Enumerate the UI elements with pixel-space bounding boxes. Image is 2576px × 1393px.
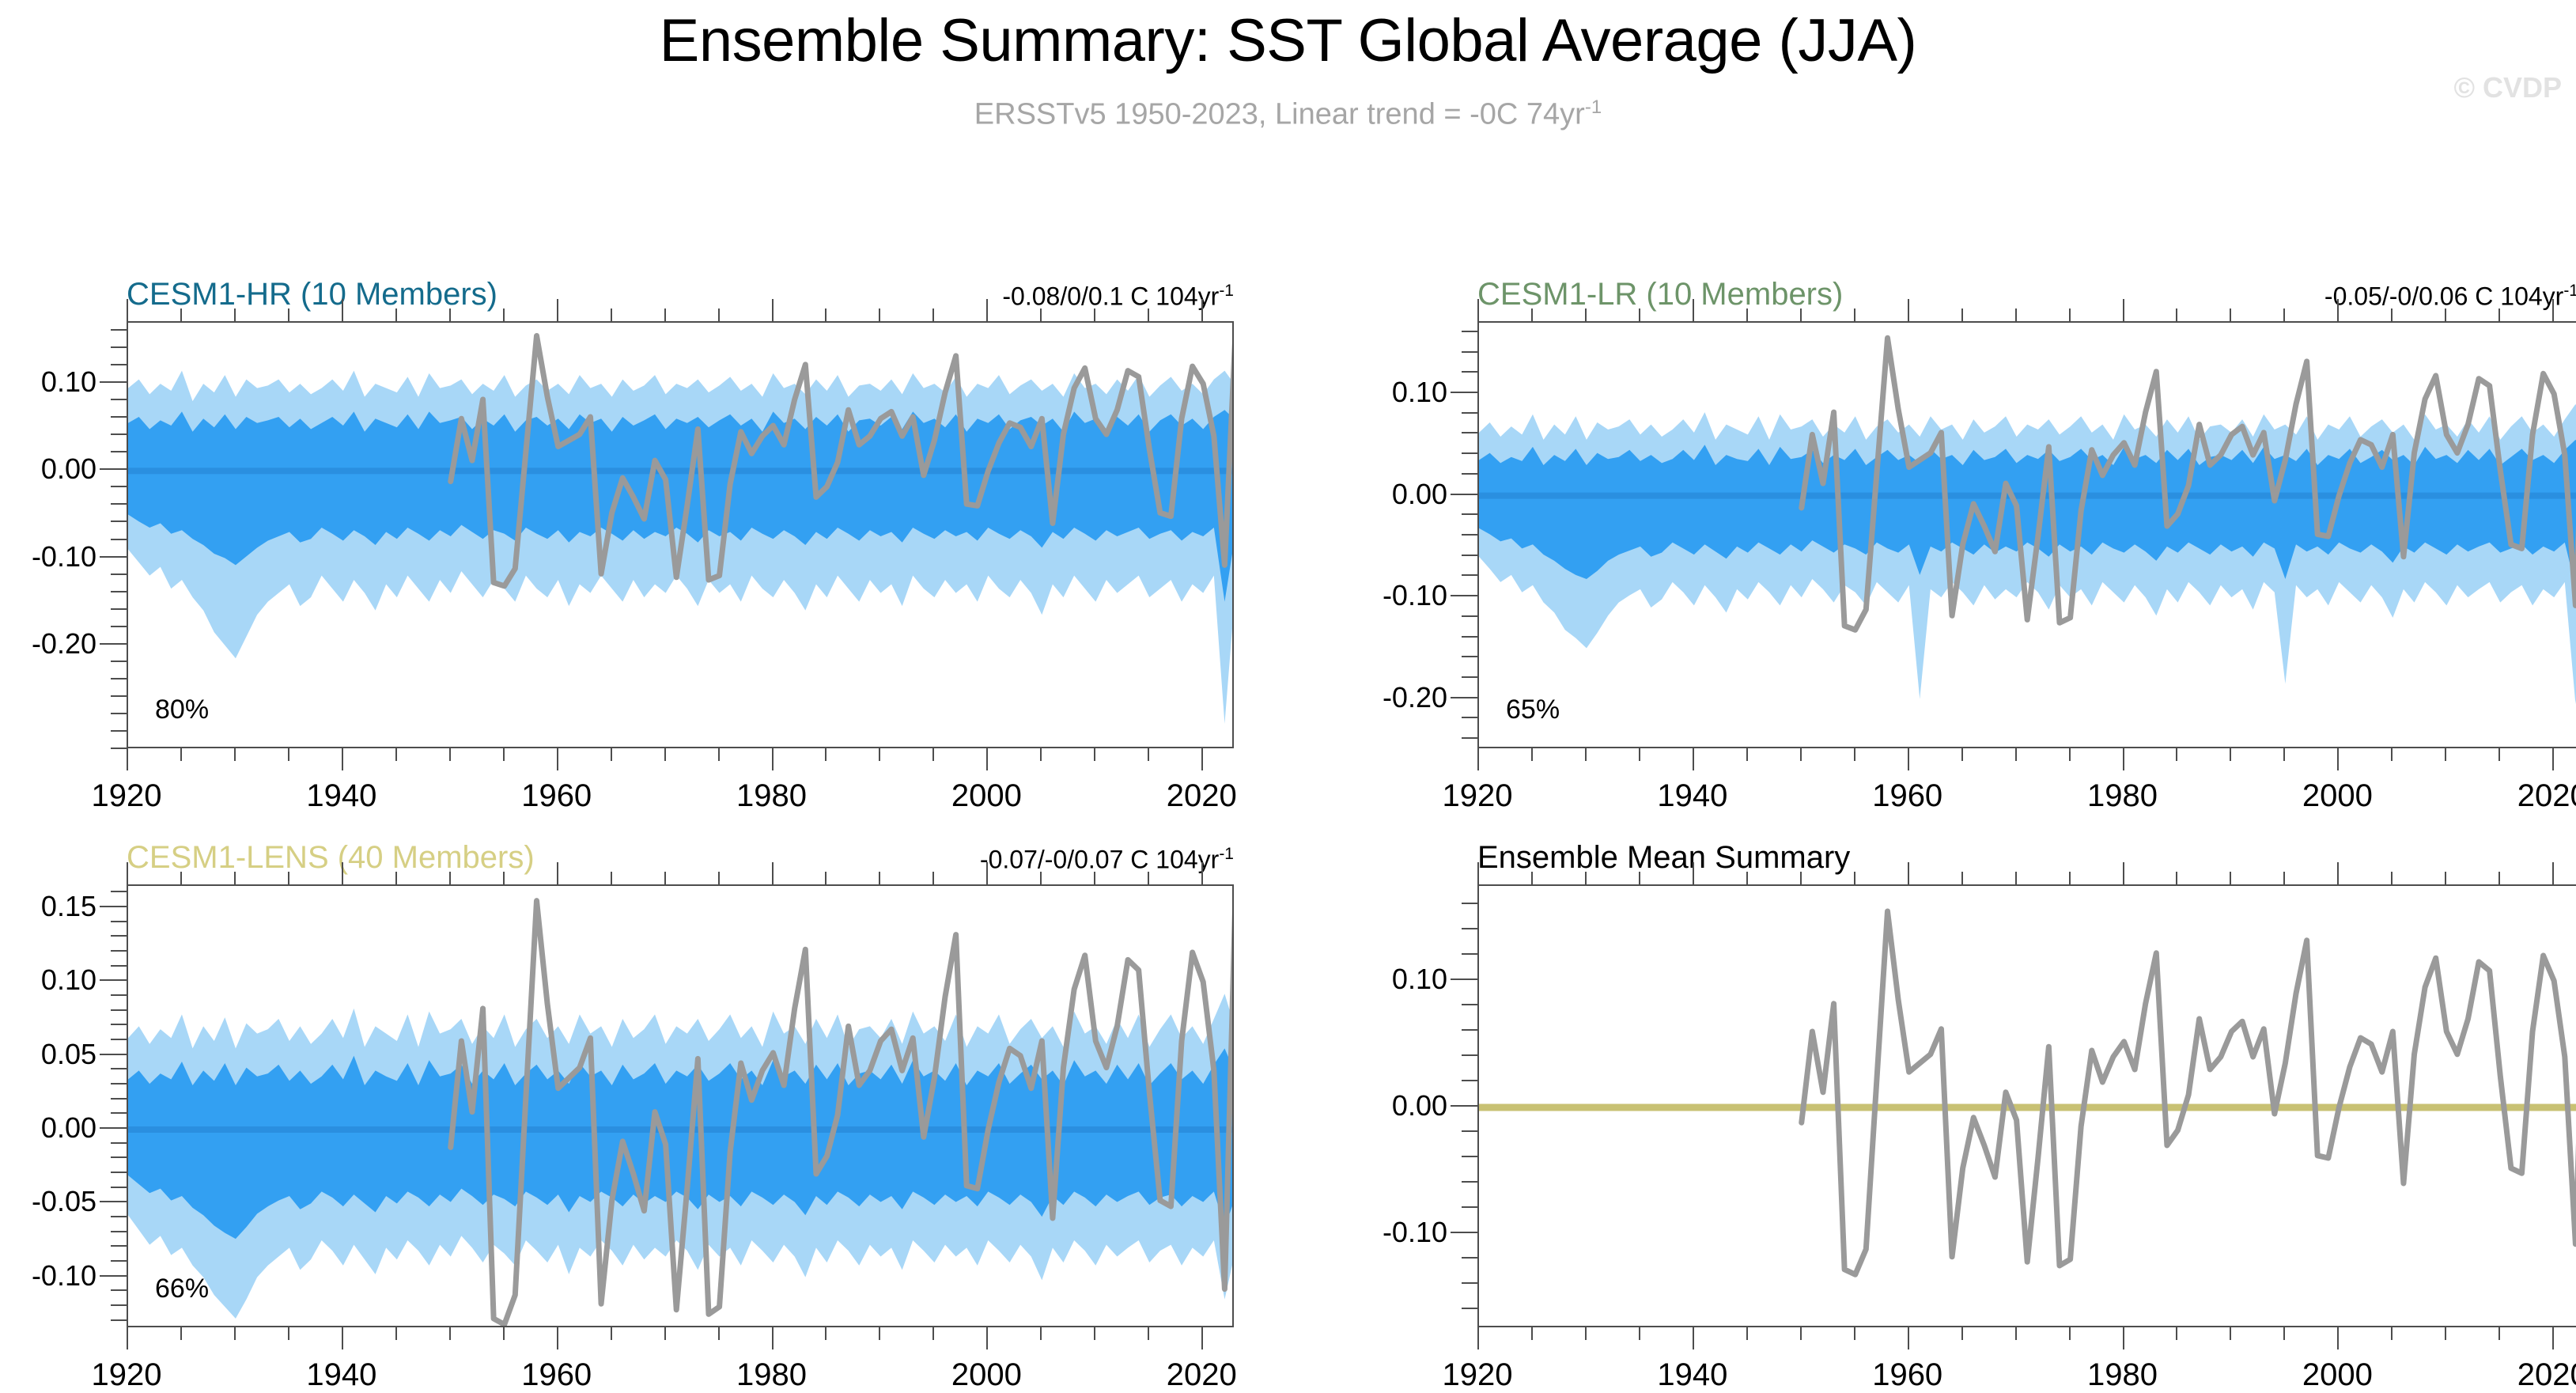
x-tick-top [1531,872,1533,884]
panel-title-cesm1-lens: CESM1-LENS (40 Members) [127,840,535,876]
x-axis-label: 2000 [951,1357,1022,1393]
panel-trend-superscript-cesm1-hr: -1 [1219,282,1234,300]
x-tick-top [2337,862,2339,884]
subtitle-superscript: -1 [1585,97,1602,118]
x-tick-top [772,862,774,884]
x-minor-tick [2283,1327,2285,1340]
y-major-tick [1451,979,1477,980]
y-minor-tick [111,1187,127,1188]
x-axis-label: 2020 [2517,1357,2576,1393]
subtitle-text: ERSSTv5 1950-2023, Linear trend = -0C 74… [974,98,1585,131]
x-tick-top [2176,309,2177,321]
x-minor-tick [2069,748,2071,761]
y-axis-label: -0.10 [1242,579,1447,612]
x-major-tick [1908,1327,1909,1349]
x-tick-top [1040,309,1042,321]
x-minor-tick [1639,748,1640,761]
y-minor-tick [111,433,127,435]
y-minor-tick [111,1156,127,1158]
x-major-tick [557,748,558,770]
x-minor-tick [1040,1327,1042,1340]
y-major-tick [100,381,127,383]
y-major-tick [1451,392,1477,393]
x-tick-top [503,872,505,884]
y-major-tick [100,906,127,907]
y-axis-label: 0.10 [1242,376,1447,409]
cvdp-watermark: © CVDP [2453,71,2562,104]
x-minor-tick [825,1327,827,1340]
x-tick-top [449,872,451,884]
x-axis-label: 1920 [1443,778,1513,814]
y-minor-tick [1462,903,1477,904]
y-axis-label: 0.10 [0,365,96,399]
x-tick-top [2015,872,2017,884]
x-major-tick [772,1327,774,1349]
x-axis-label: 1920 [92,778,162,814]
y-axis-label: 0.00 [1242,1089,1447,1122]
y-minor-tick [111,520,127,522]
y-minor-tick [111,950,127,952]
x-minor-tick [449,1327,451,1340]
x-minor-tick [2230,1327,2231,1340]
y-minor-tick [1462,574,1477,576]
y-minor-tick [111,661,127,662]
panel-header-cesm1-hr: CESM1-HR (10 Members)-0.08/0/0.1 C 104yr… [127,277,1234,320]
x-major-tick [2123,1327,2124,1349]
x-axis-label: 2000 [2302,1357,2373,1393]
percent-coverage-label-cesm1-lens: 66% [155,1274,209,1304]
x-tick-top [342,862,343,884]
x-tick-top [2123,862,2124,884]
y-minor-tick [1462,473,1477,475]
x-tick-top [986,299,988,321]
x-major-tick [2552,748,2554,770]
panel-trend-cesm1-lr: -0.05/-0/0.06 C 104yr-1 [2324,282,2576,312]
y-minor-tick [111,1098,127,1100]
y-axis-label: -0.10 [0,1259,96,1293]
y-axis-label: 0.00 [1242,478,1447,511]
x-major-tick [2337,1327,2339,1349]
x-major-tick [1477,748,1479,770]
x-tick-top [1800,872,1802,884]
x-minor-tick [1094,1327,1095,1340]
y-minor-tick [111,1112,127,1114]
y-major-tick [100,1201,127,1202]
y-minor-tick [1462,737,1477,739]
x-minor-tick [180,748,182,761]
x-tick-top [1531,309,1533,321]
x-tick-top [2391,872,2393,884]
x-minor-tick [1531,748,1533,761]
x-tick-top [718,872,720,884]
panel-header-cesm1-lens: CESM1-LENS (40 Members)-0.07/-0/0.07 C 1… [127,840,1234,883]
page-header: Ensemble Summary: SST Global Average (JJ… [0,0,2576,182]
y-major-tick [100,643,127,645]
x-tick-top [611,872,612,884]
x-tick-top [2337,299,2339,321]
x-minor-tick [1585,1327,1587,1340]
plot-canvas-ensemble-mean-summary [1479,886,2576,1327]
y-axis-label: 0.00 [0,1111,96,1145]
y-minor-tick [111,748,127,749]
x-tick-top [1585,872,1587,884]
y-axis-label: 0.05 [0,1038,96,1071]
x-axis-label: 1940 [1657,778,1727,814]
y-axis-label: 0.10 [1242,963,1447,996]
panel-trend-cesm1-hr: -0.08/0/0.1 C 104yr-1 [1002,282,1234,312]
y-major-tick [100,1054,127,1055]
x-axis-label: 1960 [521,1357,592,1393]
plot-canvas-cesm1-lens [128,886,1234,1327]
y-minor-tick [1462,1206,1477,1208]
x-axis-label: 1980 [2087,1357,2158,1393]
x-tick-top [1961,872,1963,884]
percent-coverage-label-cesm1-hr: 80% [155,695,209,725]
x-minor-tick [2283,748,2285,761]
x-tick-top [1961,309,1963,321]
y-minor-tick [111,591,127,592]
y-minor-tick [111,329,127,331]
y-minor-tick [111,608,127,610]
x-tick-top [2283,872,2285,884]
y-minor-tick [111,416,127,418]
panel-title-ensemble-mean-summary: Ensemble Mean Summary [1477,840,1850,876]
x-tick-top [1201,299,1203,321]
y-minor-tick [1462,534,1477,536]
x-minor-tick [2176,748,2177,761]
x-tick-top [1693,299,1694,321]
x-tick-top [1094,872,1095,884]
x-minor-tick [1531,1327,1533,1340]
y-minor-tick [1462,432,1477,433]
x-tick-top [1585,309,1587,321]
y-minor-tick [1462,331,1477,332]
x-minor-tick [395,1327,397,1340]
x-axis-label: 1920 [1443,1357,1513,1393]
x-minor-tick [2445,748,2446,761]
x-tick-top [180,872,182,884]
x-minor-tick [1585,748,1587,761]
y-major-tick [1451,1105,1477,1107]
x-minor-tick [1854,748,1855,761]
y-minor-tick [111,1083,127,1084]
y-minor-tick [111,1009,127,1011]
x-tick-top [932,309,934,321]
x-minor-tick [288,1327,289,1340]
y-minor-tick [111,1289,127,1291]
x-tick-top [2069,872,2071,884]
x-tick-top [2283,309,2285,321]
x-minor-tick [503,1327,505,1340]
plot-canvas-cesm1-hr [128,323,1234,748]
x-axis-label: 1940 [306,1357,376,1393]
x-minor-tick [611,1327,612,1340]
y-minor-tick [111,1024,127,1025]
panel-title-cesm1-hr: CESM1-HR (10 Members) [127,277,497,312]
x-tick-top [932,872,934,884]
plot-area-cesm1-lens [127,884,1234,1327]
x-major-tick [2123,748,2124,770]
y-minor-tick [111,921,127,922]
x-minor-tick [1148,748,1149,761]
x-minor-tick [1800,1327,1802,1340]
x-tick-top [718,309,720,321]
y-minor-tick [1462,656,1477,657]
y-major-tick [100,979,127,981]
x-tick-top [1148,309,1149,321]
y-major-tick [1451,1232,1477,1233]
x-minor-tick [2230,748,2231,761]
x-minor-tick [234,1327,236,1340]
x-tick-top [1040,872,1042,884]
x-minor-tick [1961,748,1963,761]
y-minor-tick [111,994,127,996]
y-minor-tick [1462,1130,1477,1132]
y-minor-tick [1462,928,1477,929]
x-axis-label: 2000 [2302,778,2373,814]
x-tick-top [234,309,236,321]
y-minor-tick [1462,351,1477,353]
y-minor-tick [111,695,127,697]
x-major-tick [342,748,343,770]
x-major-tick [1201,1327,1203,1349]
plot-area-ensemble-mean-summary [1477,884,2576,1327]
x-tick-top [1477,862,1479,884]
y-axis-label: 0.15 [0,890,96,923]
x-axis-label: 1960 [1872,1357,1942,1393]
x-tick-top [2069,309,2071,321]
plot-area-cesm1-hr [127,321,1234,748]
y-minor-tick [1462,1282,1477,1284]
x-tick-top [395,309,397,321]
x-tick-top [1908,862,1909,884]
x-minor-tick [1746,748,1748,761]
y-minor-tick [111,451,127,452]
y-major-tick [100,1275,127,1277]
x-tick-top [1908,299,1909,321]
x-tick-top [1746,872,1748,884]
y-minor-tick [111,965,127,967]
y-minor-tick [111,503,127,505]
x-tick-top [2123,299,2124,321]
x-tick-top [127,299,128,321]
x-minor-tick [1961,1327,1963,1340]
x-tick-top [1800,309,1802,321]
y-minor-tick [111,539,127,540]
x-minor-tick [2498,1327,2500,1340]
y-minor-tick [111,399,127,400]
page-title: Ensemble Summary: SST Global Average (JJ… [0,6,2576,75]
y-minor-tick [1462,636,1477,638]
x-minor-tick [2498,748,2500,761]
x-tick-top [2498,309,2500,321]
x-axis-label: 1940 [1657,1357,1727,1393]
x-tick-top [449,309,451,321]
y-axis-label: -0.10 [0,540,96,573]
x-axis-label: 1980 [2087,778,2158,814]
x-minor-tick [234,748,236,761]
y-minor-tick [1462,717,1477,718]
x-minor-tick [879,748,880,761]
x-minor-tick [1854,1327,1855,1340]
x-major-tick [986,748,988,770]
panel-trend-text-cesm1-hr: -0.08/0/0.1 C 104yr [1002,282,1219,311]
x-tick-top [127,862,128,884]
y-major-tick [1451,697,1477,698]
x-minor-tick [2391,748,2393,761]
x-tick-top [1639,309,1640,321]
x-tick-top [664,872,666,884]
x-major-tick [2337,748,2339,770]
x-minor-tick [2069,1327,2071,1340]
x-minor-tick [879,1327,880,1340]
x-minor-tick [932,748,934,761]
x-tick-top [557,299,558,321]
x-minor-tick [2015,1327,2017,1340]
x-tick-top [2445,309,2446,321]
plot-area-cesm1-lr [1477,321,2576,748]
y-minor-tick [1462,513,1477,515]
y-minor-tick [1462,1181,1477,1183]
panel-title-cesm1-lr: CESM1-LR (10 Members) [1477,277,1843,312]
x-minor-tick [1746,1327,1748,1340]
x-tick-top [180,309,182,321]
y-minor-tick [111,891,127,892]
y-minor-tick [111,1039,127,1040]
x-minor-tick [1800,748,1802,761]
y-minor-tick [1462,1308,1477,1309]
x-minor-tick [2445,1327,2446,1340]
x-tick-top [2445,872,2446,884]
x-minor-tick [718,748,720,761]
panel-trend-cesm1-lens: -0.07/-0/0.07 C 104yr-1 [980,845,1234,875]
x-tick-top [664,309,666,321]
x-minor-tick [1148,1327,1149,1340]
y-minor-tick [1462,615,1477,617]
y-minor-tick [1462,555,1477,556]
x-tick-top [288,309,289,321]
y-minor-tick [111,1142,127,1144]
y-minor-tick [111,573,127,575]
x-major-tick [342,1327,343,1349]
outer-uncertainty-band-cesm1-lr [1479,404,2576,704]
percent-coverage-label-cesm1-lr: 65% [1506,695,1560,725]
x-tick-top [288,872,289,884]
y-major-tick [1451,595,1477,596]
y-minor-tick [111,1068,127,1069]
y-minor-tick [111,1231,127,1232]
y-axis-label: -0.10 [1242,1216,1447,1249]
panel-trend-superscript-cesm1-lr: -1 [2563,282,2576,300]
x-major-tick [2552,1327,2554,1349]
y-minor-tick [111,1260,127,1262]
x-tick-top [1094,309,1095,321]
y-minor-tick [1462,1080,1477,1081]
x-tick-top [342,299,343,321]
y-minor-tick [111,486,127,487]
x-tick-top [2015,309,2017,321]
x-major-tick [1693,1327,1694,1349]
y-minor-tick [1462,1156,1477,1157]
x-major-tick [1908,748,1909,770]
x-axis-label: 1940 [306,778,376,814]
x-minor-tick [2391,1327,2393,1340]
x-minor-tick [664,748,666,761]
x-tick-top [879,309,880,321]
x-tick-top [825,309,827,321]
y-minor-tick [111,364,127,365]
x-minor-tick [825,748,827,761]
x-major-tick [986,1327,988,1349]
page-subtitle: ERSSTv5 1950-2023, Linear trend = -0C 74… [0,97,2576,132]
x-tick-top [1854,872,1855,884]
x-tick-top [1854,309,1855,321]
x-tick-top [557,862,558,884]
x-tick-top [234,872,236,884]
y-axis-label: 0.10 [0,963,96,997]
x-minor-tick [2176,1327,2177,1340]
x-major-tick [1201,748,1203,770]
x-axis-label: 1960 [521,778,592,814]
y-minor-tick [1462,953,1477,955]
x-tick-top [1477,299,1479,321]
x-tick-top [2391,309,2393,321]
x-axis-label: 1960 [1872,778,1942,814]
x-tick-top [1746,309,1748,321]
y-minor-tick [1462,412,1477,414]
y-minor-tick [1462,1029,1477,1031]
x-minor-tick [2015,748,2017,761]
x-tick-top [611,309,612,321]
y-minor-tick [111,1245,127,1247]
x-minor-tick [180,1327,182,1340]
x-tick-top [2176,872,2177,884]
y-minor-tick [111,1319,127,1321]
y-minor-tick [111,730,127,732]
x-minor-tick [611,748,612,761]
x-major-tick [1477,1327,1479,1349]
panel-header-ensemble-mean-summary: Ensemble Mean Summary [1477,840,2576,883]
x-major-tick [127,748,128,770]
y-axis-label: -0.20 [1242,681,1447,714]
x-tick-top [1693,862,1694,884]
x-tick-top [1201,862,1203,884]
y-major-tick [100,1127,127,1129]
y-minor-tick [111,346,127,348]
x-tick-top [772,299,774,321]
x-minor-tick [664,1327,666,1340]
x-axis-label: 1980 [736,1357,807,1393]
x-major-tick [127,1327,128,1349]
y-minor-tick [111,713,127,714]
panel-trend-text-cesm1-lens: -0.07/-0/0.07 C 104yr [980,846,1219,874]
y-minor-tick [111,626,127,627]
y-minor-tick [111,1216,127,1217]
y-minor-tick [1462,371,1477,373]
x-tick-top [879,872,880,884]
x-minor-tick [503,748,505,761]
x-minor-tick [395,748,397,761]
x-minor-tick [1040,748,1042,761]
x-axis-label: 2000 [951,778,1022,814]
x-tick-top [1148,872,1149,884]
x-tick-top [2230,872,2231,884]
y-minor-tick [111,1172,127,1173]
x-minor-tick [1094,748,1095,761]
panel-trend-text-cesm1-lr: -0.05/-0/0.06 C 104yr [2324,282,2563,311]
y-minor-tick [1462,1054,1477,1056]
y-minor-tick [111,678,127,679]
